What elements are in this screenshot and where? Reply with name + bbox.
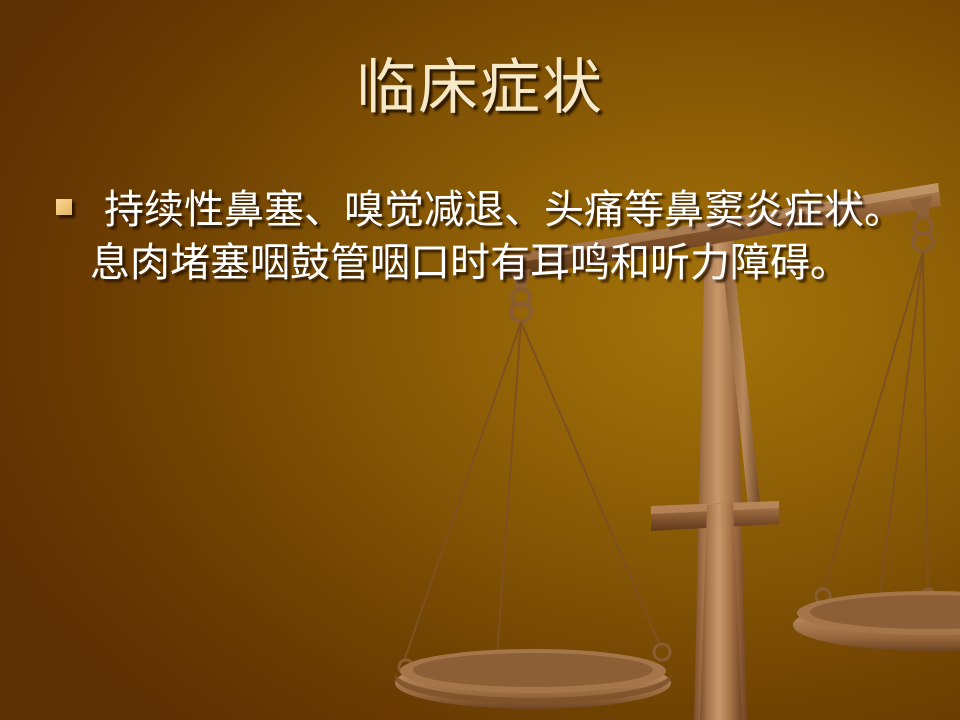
right-pan-hooks (816, 589, 935, 603)
left-pan-hooks (399, 644, 670, 674)
right-suspension-strings (823, 252, 928, 596)
fulcrum-post-front (700, 503, 742, 720)
square-bullet-icon (56, 199, 72, 215)
bullet-item-text: 持续性鼻塞、嗅觉减退、头痛等鼻窦炎症状。息肉堵塞咽鼓管咽口时有耳鸣和听力障碍。 (90, 183, 924, 289)
left-suspension-strings (404, 322, 661, 661)
pointer-needle (722, 255, 761, 514)
right-pan (793, 591, 960, 651)
fulcrum-post (694, 236, 747, 720)
slide-title: 临床症状 (0, 50, 960, 126)
bullet-list: 持续性鼻塞、嗅觉减退、头痛等鼻窦炎症状。息肉堵塞咽鼓管咽口时有耳鸣和听力障碍。 (56, 183, 924, 289)
presentation-slide: 临床症状 持续性鼻塞、嗅觉减退、头痛等鼻窦炎症状。息肉堵塞咽鼓管咽口时有耳鸣和听… (0, 0, 960, 720)
crossbar (651, 501, 779, 531)
left-pan (395, 649, 671, 709)
